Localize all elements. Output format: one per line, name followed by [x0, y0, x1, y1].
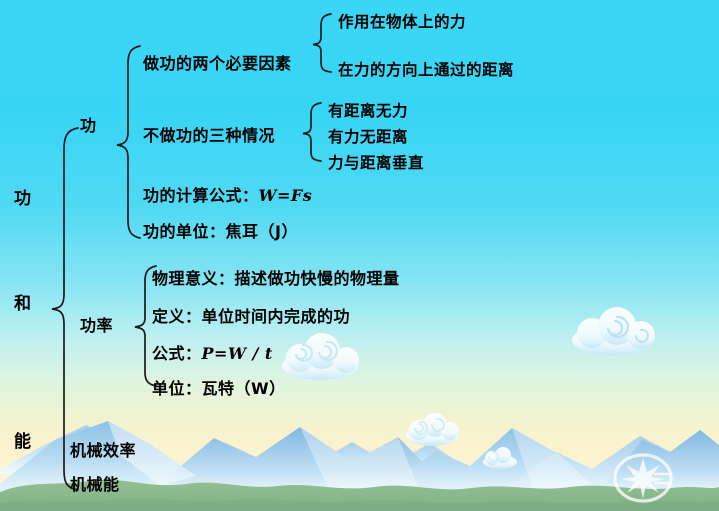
watermark-logo-icon	[612, 452, 674, 504]
brace-three-cases	[300, 101, 324, 163]
root-label-line-3: 能	[14, 427, 32, 452]
branch-label-gong: 功	[80, 112, 97, 136]
cloud-small-left	[406, 413, 459, 446]
node-work-formula: 功的计算公式：W=Fs	[143, 182, 312, 206]
cloud-mid-center	[282, 333, 359, 380]
node-power-unit: 单位：瓦特（W）	[152, 375, 286, 399]
leaf-force-perpendicular: 力与距离垂直	[328, 151, 424, 173]
leaf-distance-no-force: 有距离无力	[328, 99, 408, 121]
brace-two-factors	[310, 12, 334, 74]
node-power-formula-value: P=W / t	[202, 344, 273, 363]
leaf-force-no-distance: 有力无距离	[328, 125, 408, 147]
root-label-line-1: 功	[14, 184, 32, 209]
node-work-formula-label: 功的计算公式：	[143, 186, 259, 205]
leaf-distance-along-force: 在力的方向上通过的距离	[338, 58, 514, 80]
node-work-formula-value: W=Fs	[259, 186, 313, 205]
node-two-factors: 做功的两个必要因素	[143, 50, 292, 74]
node-power-formula: 公式：P=W / t	[152, 340, 273, 364]
node-three-cases: 不做功的三种情况	[143, 122, 275, 146]
node-mechanical-efficiency: 机械效率	[70, 437, 136, 461]
node-work-unit: 功的单位：焦耳（J）	[143, 218, 298, 242]
node-definition: 定义：单位时间内完成的功	[152, 303, 350, 327]
node-physical-meaning: 物理意义：描述做功快慢的物理量	[152, 265, 400, 289]
branch-label-gonglv: 功率	[80, 312, 113, 336]
brace-gong	[114, 44, 144, 240]
leaf-force-on-object: 作用在物体上的力	[338, 10, 466, 32]
cloud-large-right	[572, 307, 655, 355]
root-label-line-2: 和	[14, 289, 32, 314]
node-mechanical-energy: 机械能	[70, 471, 120, 495]
slide-canvas: 功 和 能 功 做功的两个必要因素 作用在物体上的力 在力的方向上通过的距离 不…	[0, 0, 719, 511]
node-power-formula-label: 公式：	[152, 344, 202, 363]
